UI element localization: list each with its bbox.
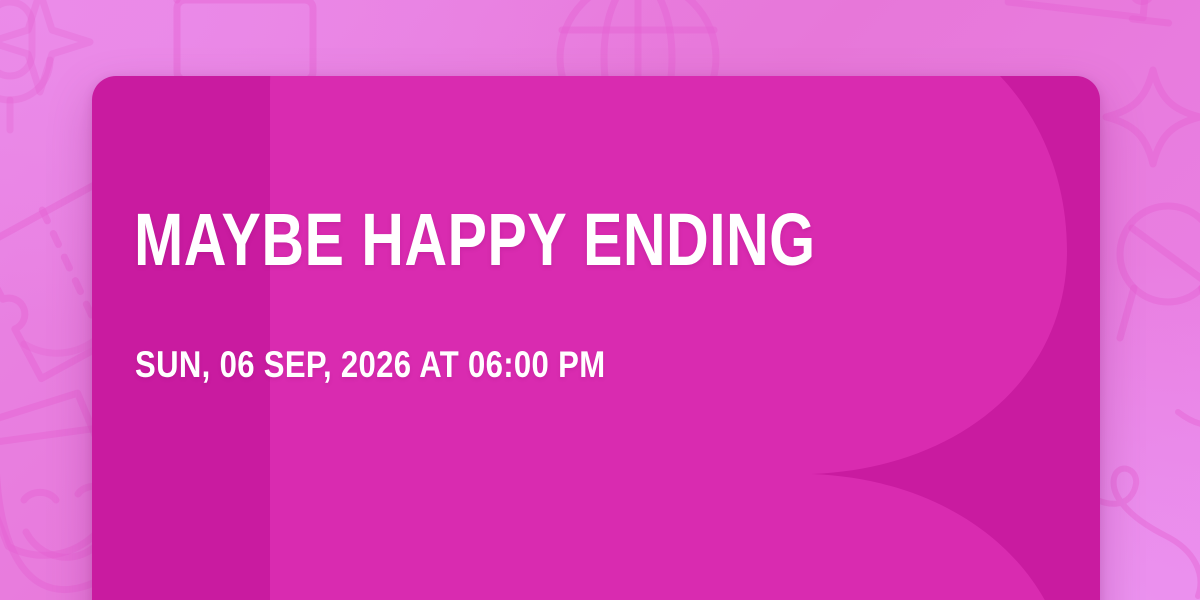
microphone-icon bbox=[0, 0, 74, 140]
event-hero-stage: MAYBE HAPPY ENDING SUN, 06 SEP, 2026 AT … bbox=[0, 0, 1200, 600]
ticket-tag-icon bbox=[985, 0, 1200, 74]
sparkle-icon bbox=[1098, 62, 1200, 172]
balloon-icon bbox=[1112, 198, 1200, 348]
event-title: MAYBE HAPPY ENDING bbox=[134, 201, 816, 279]
event-datetime: SUN, 06 SEP, 2026 AT 06:00 PM bbox=[135, 344, 605, 386]
card-content: MAYBE HAPPY ENDING SUN, 06 SEP, 2026 AT … bbox=[134, 76, 1060, 600]
event-card[interactable]: MAYBE HAPPY ENDING SUN, 06 SEP, 2026 AT … bbox=[92, 76, 1100, 600]
star-burst-icon bbox=[0, 0, 100, 102]
